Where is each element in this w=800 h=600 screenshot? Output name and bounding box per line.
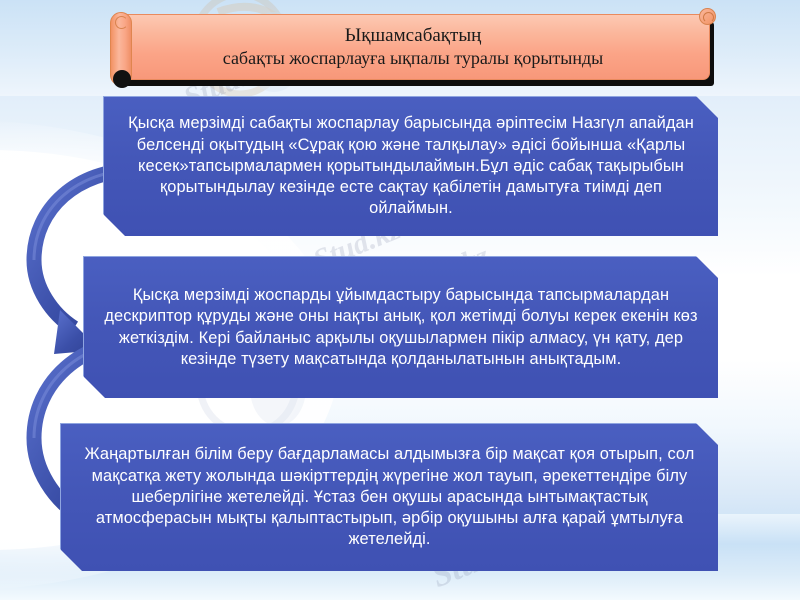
content-box-2-text: Қысқа мерзімді жоспарды ұйымдастыру бары… xyxy=(100,285,702,370)
page-title-line2: сабақты жоспарлауға ықпалы туралы қорыты… xyxy=(223,48,604,70)
content-box-2: Қысқа мерзімді жоспарды ұйымдастыру бары… xyxy=(83,256,718,398)
content-box-3: Жаңартылған білім беру бағдарламасы алды… xyxy=(60,423,718,571)
content-box-1-text: Қысқа мерзімді сабақты жоспарлау барысын… xyxy=(120,113,702,220)
slide-canvas: Stud.kz - Stud.kz Stud.kz - Stud.kz Stud… xyxy=(0,0,800,600)
content-box-1: Қысқа мерзімді сабақты жоспарлау барысын… xyxy=(103,96,718,236)
page-title: Ықшамсабақтың сабақты жоспарлауға ықпалы… xyxy=(116,14,710,80)
content-box-3-text: Жаңартылған білім беру бағдарламасы алды… xyxy=(77,444,702,551)
page-title-line1: Ықшамсабақтың xyxy=(345,24,482,47)
title-banner: Ықшамсабақтың сабақты жоспарлауға ықпалы… xyxy=(110,6,714,90)
